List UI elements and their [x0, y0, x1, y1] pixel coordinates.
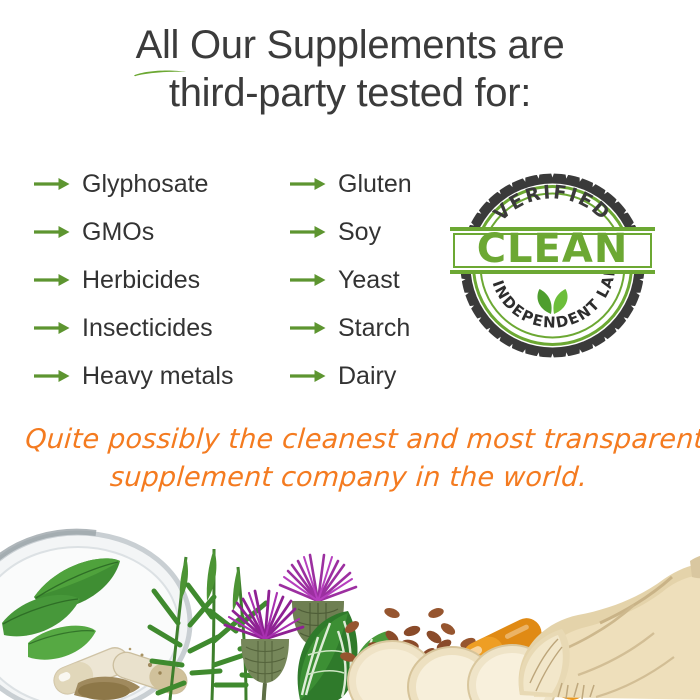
list-item-label: GMOs — [82, 218, 154, 246]
list-item: GMOs — [34, 208, 264, 256]
list-item: Soy — [290, 208, 440, 256]
list-item-label: Glyphosate — [82, 170, 208, 198]
seal-banner-label: CLEAN — [477, 226, 629, 272]
list-item: Glyphosate — [34, 160, 264, 208]
green-right-arrow-icon — [34, 223, 70, 241]
checklist-column-left: Glyphosate GMOs Herbicides Insecticides … — [34, 160, 264, 400]
headline-line-1: All Our Supplements are — [0, 22, 700, 70]
green-right-arrow-icon — [290, 319, 326, 337]
list-item-label: Heavy metals — [82, 362, 233, 390]
headline-line-2: third-party tested for: — [0, 70, 700, 116]
headline-emphasis-text: All — [136, 23, 180, 67]
headline-emphasis-all: All — [136, 22, 180, 70]
ingredient-photo-strip — [0, 505, 700, 700]
list-item-label: Starch — [338, 314, 410, 342]
list-item-label: Insecticides — [82, 314, 213, 342]
list-item-label: Herbicides — [82, 266, 200, 294]
list-item-label: Dairy — [338, 362, 396, 390]
list-item: Gluten — [290, 160, 440, 208]
list-item: Starch — [290, 304, 440, 352]
green-brush-underline-icon — [133, 68, 189, 77]
seal-clean-banner: CLEAN — [450, 226, 655, 274]
list-item: Yeast — [290, 256, 440, 304]
green-right-arrow-icon — [34, 175, 70, 193]
tagline: Quite possibly the cleanest and most tra… — [21, 421, 678, 497]
list-item-label: Yeast — [338, 266, 400, 294]
green-right-arrow-icon — [290, 271, 326, 289]
list-item: Heavy metals — [34, 352, 264, 400]
tagline-line-2: supplement company in the world. — [21, 459, 676, 497]
green-right-arrow-icon — [34, 319, 70, 337]
green-right-arrow-icon — [290, 175, 326, 193]
checklist-column-right: Gluten Soy Yeast Starch Dairy — [290, 160, 440, 400]
list-item: Dairy — [290, 352, 440, 400]
tagline-line-1: Quite possibly the cleanest and most tra… — [24, 421, 679, 459]
list-item-label: Soy — [338, 218, 381, 246]
green-right-arrow-icon — [34, 367, 70, 385]
verified-clean-seal: VERIFIED BY INDEPENDENT LABS CLEAN — [450, 163, 655, 368]
green-right-arrow-icon — [290, 367, 326, 385]
list-item-label: Gluten — [338, 170, 412, 198]
green-right-arrow-icon — [290, 223, 326, 241]
headline-line-1-rest: Our Supplements are — [179, 23, 564, 67]
green-right-arrow-icon — [34, 271, 70, 289]
list-item: Insecticides — [34, 304, 264, 352]
list-item: Herbicides — [34, 256, 264, 304]
page-headline: All Our Supplements are third-party test… — [0, 22, 700, 116]
